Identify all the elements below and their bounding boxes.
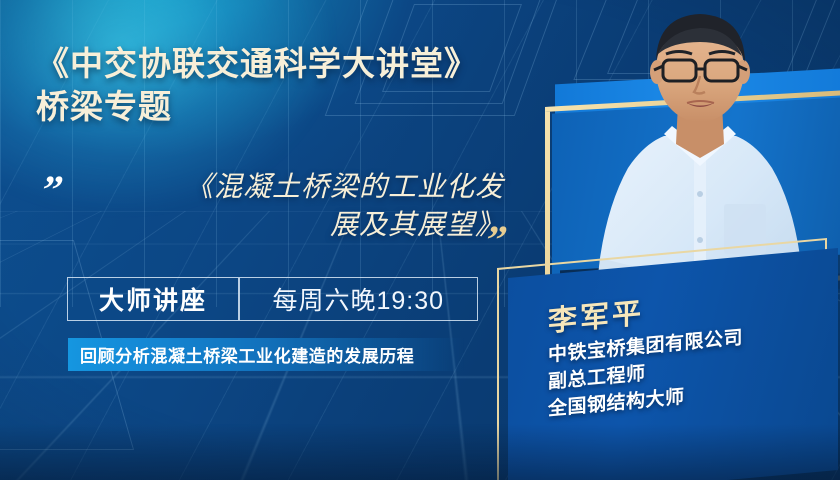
headline-line-1: 《中交协联交通科学大讲堂》 xyxy=(36,46,556,83)
schedule-label: 大师讲座 xyxy=(68,278,238,320)
quote-line-2: 展及其展望》 xyxy=(84,206,504,244)
tagline-bar: 回顾分析混凝土桥梁工业化建造的发展历程 xyxy=(68,338,464,371)
headline-line-2: 桥梁专题 xyxy=(36,89,556,126)
schedule-bar: 大师讲座 每周六晚19:30 xyxy=(67,277,478,321)
tagline-text: 回顾分析混凝土桥梁工业化建造的发展历程 xyxy=(80,342,414,367)
lecture-title-quote: ” 《混凝土桥梁的工业化发 展及其展望》 ” xyxy=(36,168,536,244)
speaker-info: 李军平 中铁宝桥集团有限公司 副总工程师 全国钢结构大师 xyxy=(528,257,840,480)
poster-headline: 《中交协联交通科学大讲堂》 桥梁专题 xyxy=(36,46,556,126)
quote-open-mark: ” xyxy=(38,170,67,210)
quote-line-1: 《混凝土桥梁的工业化发 xyxy=(84,168,504,206)
schedule-time: 每周六晚19:30 xyxy=(240,278,478,320)
lecture-poster: 《中交协联交通科学大讲堂》 桥梁专题 ” 《混凝土桥梁的工业化发 展及其展望》 … xyxy=(0,0,840,480)
quote-text: 《混凝土桥梁的工业化发 展及其展望》 xyxy=(84,168,504,244)
